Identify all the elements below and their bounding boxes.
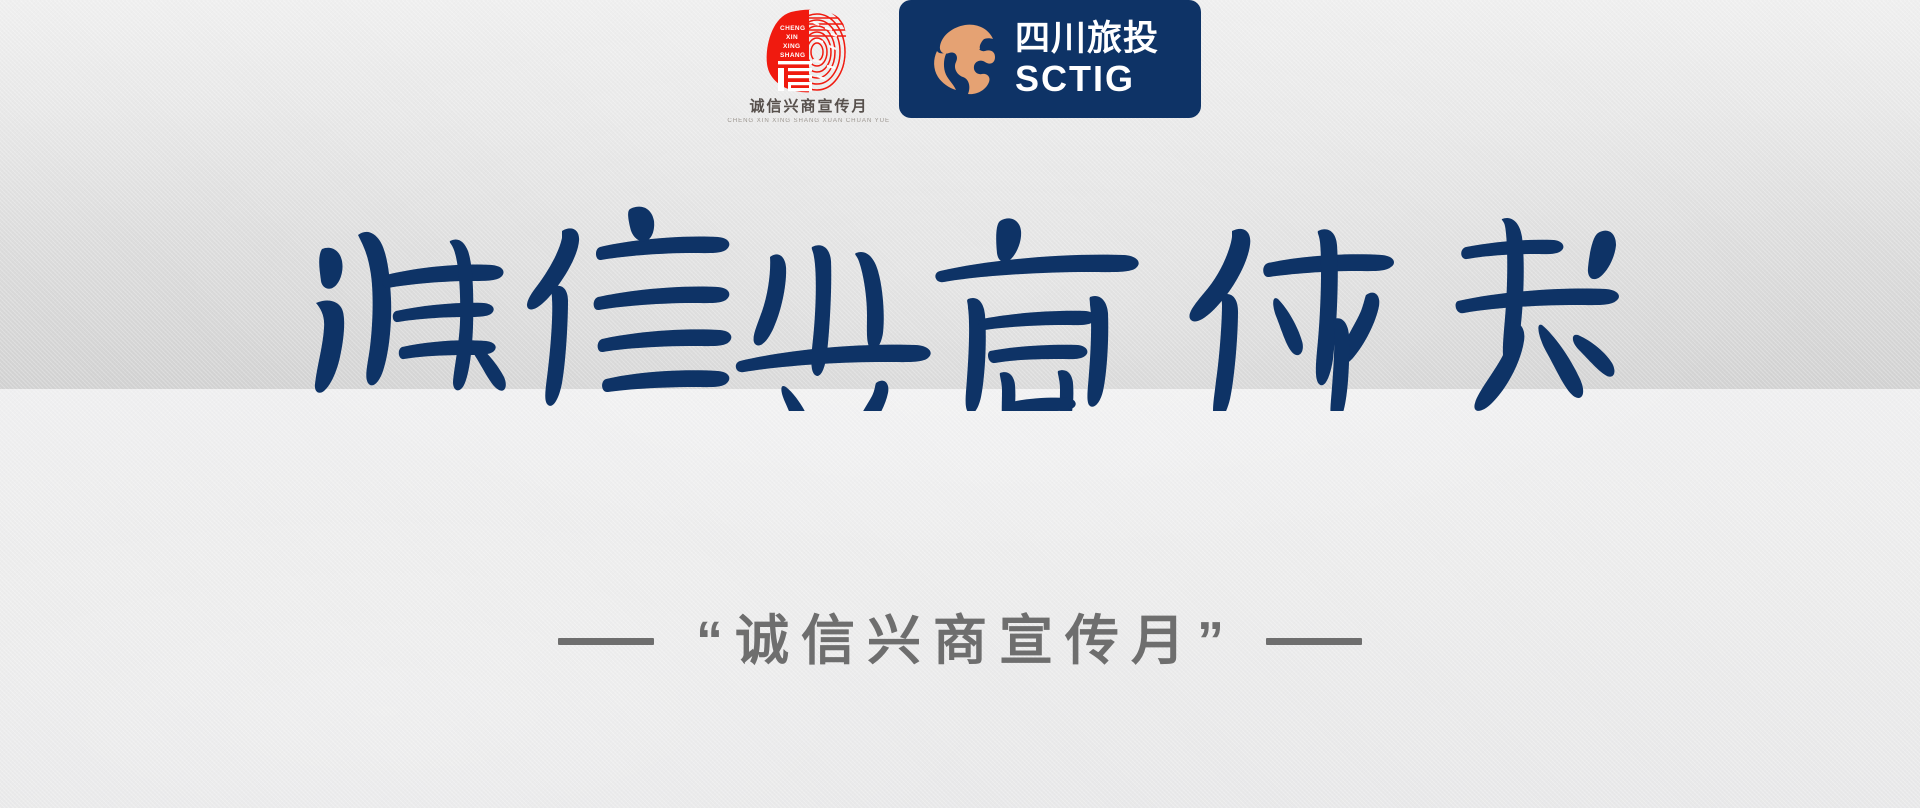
seal-caption-cn: 诚信兴商宣传月 xyxy=(749,100,868,115)
seal-logo: CHENG XIN XING SHANG xyxy=(719,0,899,124)
headline-calligraphy xyxy=(300,191,1620,411)
globe-icon xyxy=(925,21,1001,97)
logo-row: CHENG XIN XING SHANG xyxy=(0,0,1920,140)
headline xyxy=(0,186,1920,416)
sctig-text-block: 四川旅投 SCTIG xyxy=(1015,21,1159,97)
sctig-name-en: SCTIG xyxy=(1015,61,1159,97)
sctig-logo: 四川旅投 SCTIG xyxy=(899,0,1201,118)
seal-mark-icon: CHENG XIN XING SHANG xyxy=(759,6,859,96)
subtitle-rule-left xyxy=(558,638,654,645)
promo-banner: CHENG XIN XING SHANG xyxy=(0,0,1920,808)
subtitle-text: “诚信兴商宣传月” xyxy=(684,614,1236,668)
subtitle: “诚信兴商宣传月” xyxy=(0,596,1920,686)
sctig-name-cn: 四川旅投 xyxy=(1015,21,1159,56)
seal-caption-pinyin: CHENG XIN XING SHANG XUAN CHUAN YUE xyxy=(728,118,891,124)
svg-text:XING: XING xyxy=(783,43,801,50)
svg-text:CHENG: CHENG xyxy=(780,25,805,32)
svg-text:SHANG: SHANG xyxy=(780,52,805,59)
svg-text:XIN: XIN xyxy=(786,34,798,41)
subtitle-rule-right xyxy=(1266,638,1362,645)
